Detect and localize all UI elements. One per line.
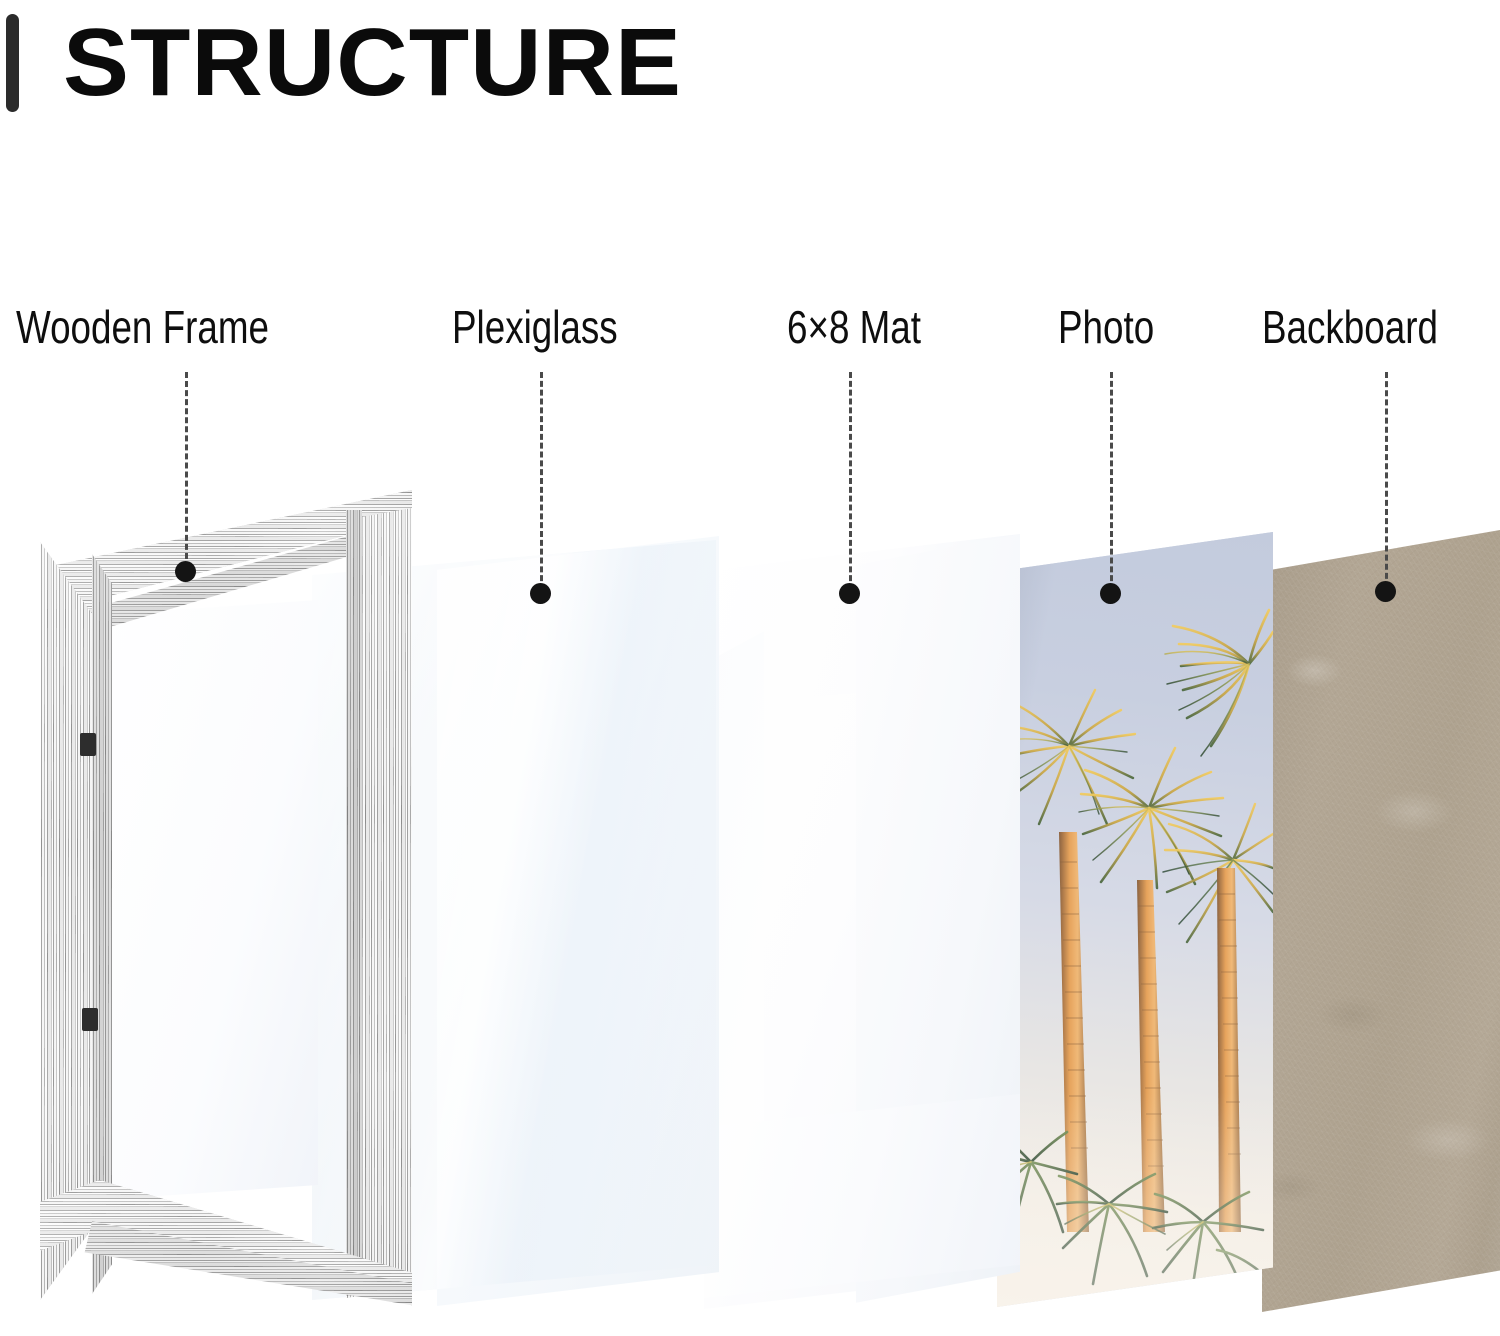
label-plexiglass: Plexiglass	[452, 304, 618, 350]
wooden-frame-group	[40, 490, 412, 1300]
leader-dot-mat	[839, 583, 860, 604]
exploded-diagram	[0, 0, 1500, 1336]
leader-dot-wooden-frame	[175, 561, 196, 582]
leader-line-mat	[849, 372, 852, 590]
leader-line-wooden-frame	[185, 372, 188, 568]
leader-dot-photo	[1100, 583, 1121, 604]
leader-dot-backboard	[1375, 581, 1396, 602]
label-backboard: Backboard	[1262, 304, 1438, 350]
frame-hanging-clip-lower	[82, 1008, 98, 1031]
label-wooden-frame: Wooden Frame	[16, 304, 269, 350]
photo-edge-shading	[997, 532, 1273, 1307]
label-photo: Photo	[1058, 304, 1154, 350]
leader-line-photo	[1110, 372, 1113, 590]
leader-line-plexiglass	[540, 372, 543, 590]
backboard-edge-shading	[1262, 530, 1500, 1312]
leader-dot-plexiglass	[530, 583, 551, 604]
frame-hanging-clip-upper	[80, 733, 96, 756]
frame-rail-right-bevel	[346, 510, 362, 1296]
leader-line-backboard	[1385, 372, 1388, 588]
label-mat: 6×8 Mat	[787, 304, 921, 350]
